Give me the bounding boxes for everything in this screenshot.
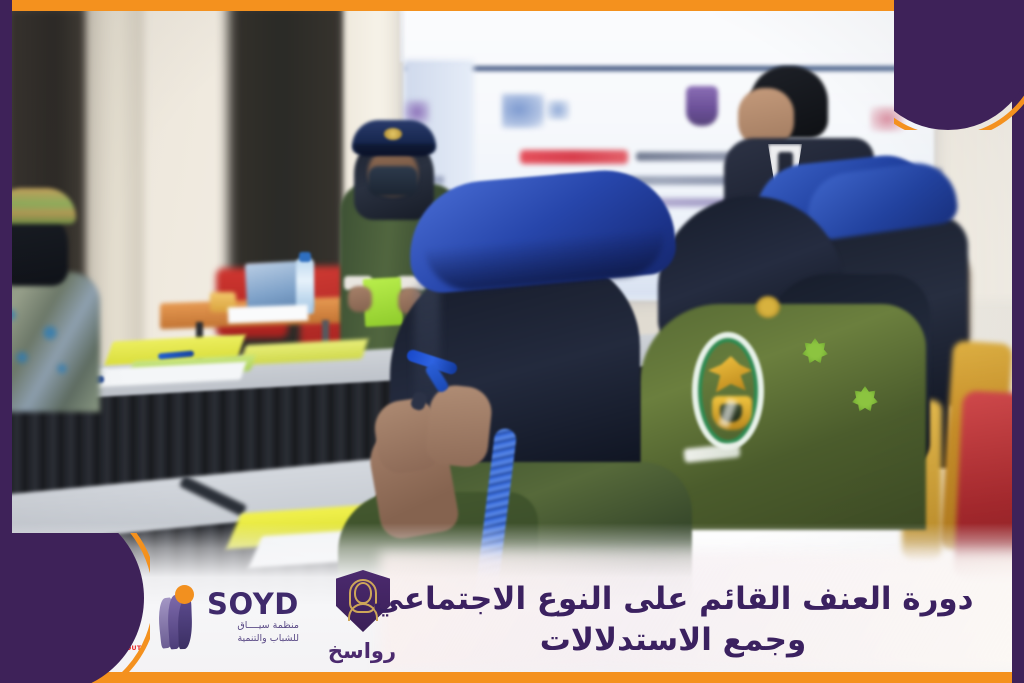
frame-bar-bottom <box>0 672 1024 683</box>
corner-decoration-bottom-left <box>0 533 150 683</box>
corner-bl-arc <box>0 533 150 683</box>
soyd-text-block: SOYD منظمة سيــــاق للشباب والتنمية <box>207 590 299 645</box>
soyd-flame-3 <box>177 599 193 649</box>
soyd-flame-mark-icon <box>158 585 200 649</box>
frame-bar-top <box>0 0 1024 11</box>
poster-title: دورة العنف القائم على النوع الاجتماعي وج… <box>370 579 976 661</box>
poster-title-line-1: دورة العنف القائم على النوع الاجتماعي <box>372 581 973 617</box>
logo-soyd: SOYD منظمة سيــــاق للشباب والتنمية <box>158 580 310 654</box>
corner-decoration-top-right <box>894 0 1024 130</box>
soyd-arabic-line-2: للشباب والتنمية <box>207 633 299 645</box>
soyd-arabic-line-1: منظمة سيــــاق <box>207 620 299 632</box>
event-poster: أجيال بلا قات GENERATIONS WITHOUT QAT SO… <box>0 0 1024 683</box>
corner-tr-arc <box>894 0 1024 130</box>
soyd-name: SOYD <box>207 590 299 619</box>
poster-title-line-2: وجمع الاستدلالات <box>370 620 976 661</box>
soyd-orange-dot-icon <box>175 585 194 604</box>
